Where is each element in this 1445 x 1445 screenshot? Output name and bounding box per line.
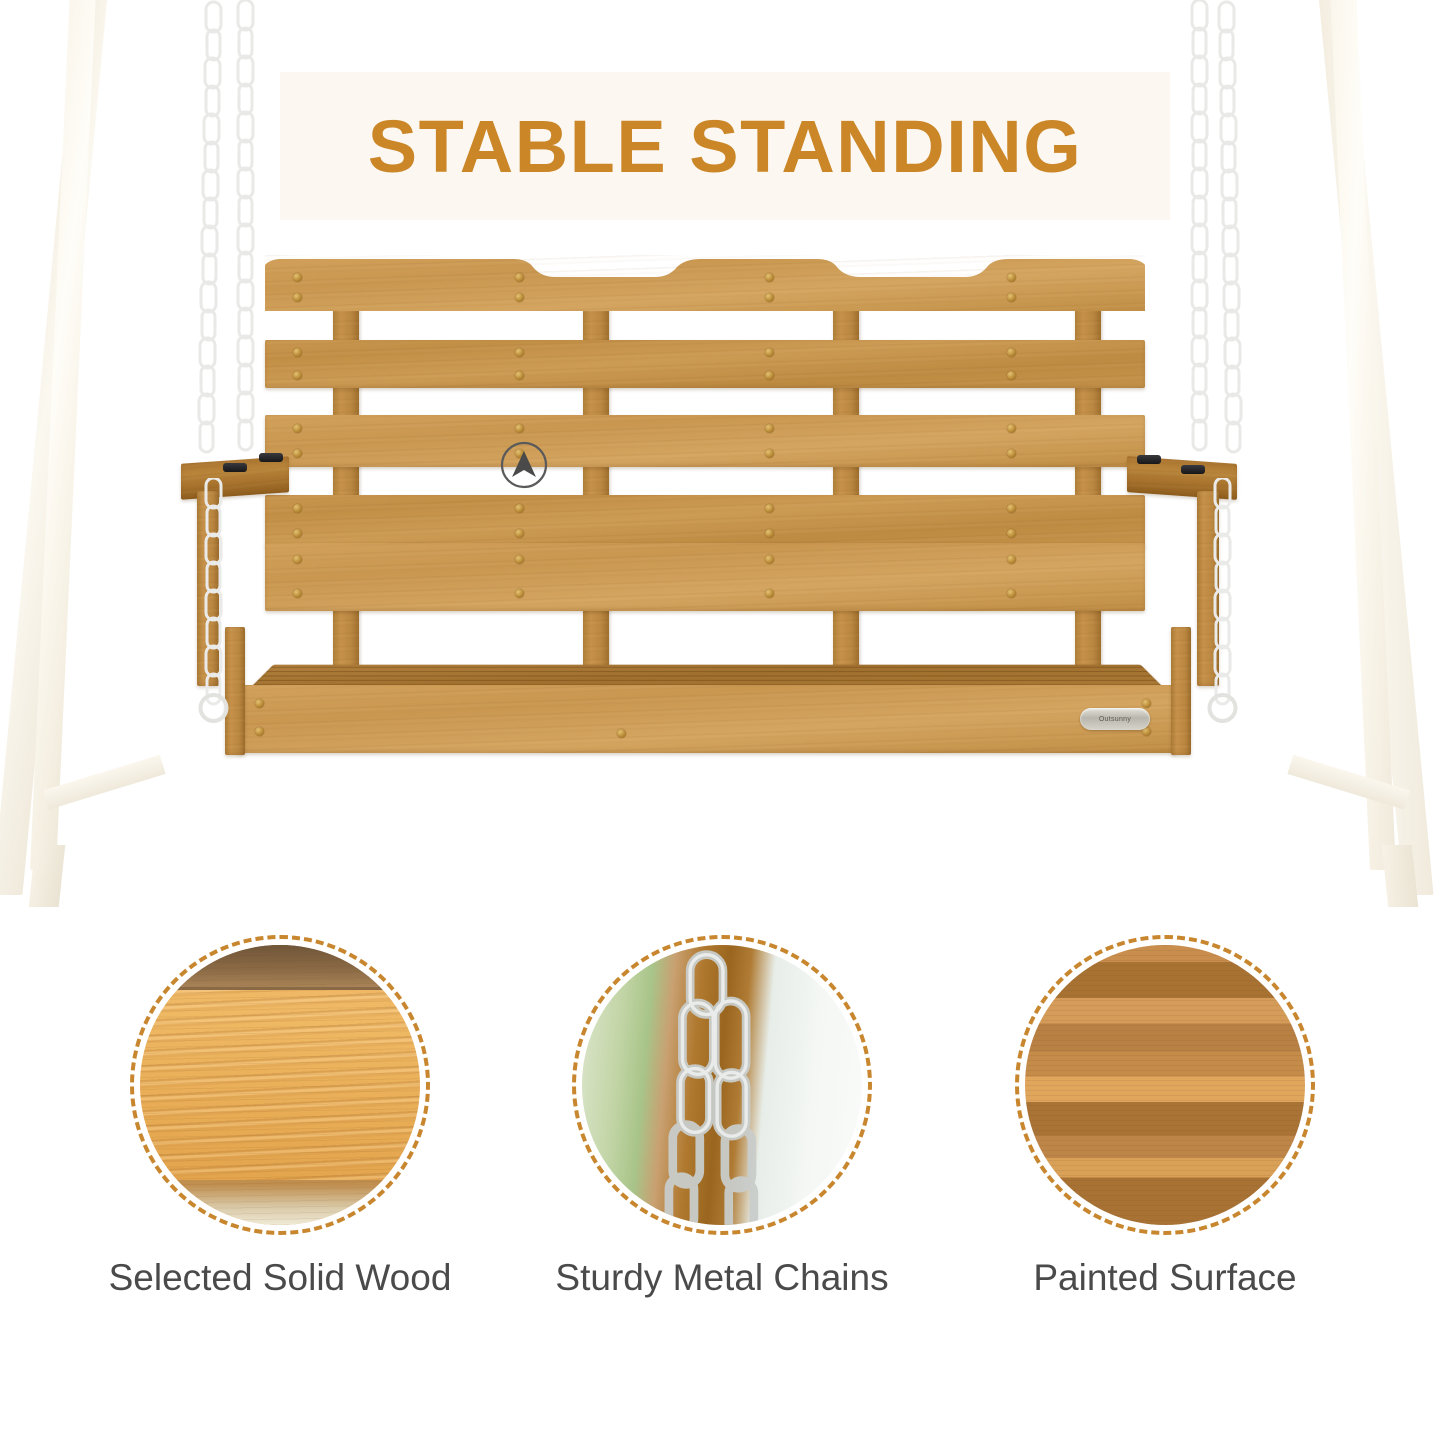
feature-circle-0 xyxy=(130,935,430,1235)
back-slat-5 xyxy=(265,543,1145,611)
solid-wood-board-closeup-photo xyxy=(140,945,420,1225)
eyebolt-mount-left-rear xyxy=(259,453,283,462)
stand-brace-left xyxy=(43,755,166,810)
feature-item-0: Selected Solid Wood xyxy=(70,935,490,1299)
back-slat-4 xyxy=(265,495,1145,547)
feature-item-1: Sturdy Metal Chains xyxy=(512,935,932,1299)
eyebolt-mount-right-rear xyxy=(1137,455,1161,464)
bench-top-rail xyxy=(265,255,1145,311)
up-arrow-circle-icon xyxy=(498,439,550,491)
feature-highlights: Selected Solid Wood xyxy=(0,935,1445,1335)
chain-right-inner xyxy=(1182,0,1216,520)
bench-front-apron xyxy=(237,685,1177,753)
porch-swing-bench xyxy=(175,255,1245,765)
chain-left-lower xyxy=(196,478,232,728)
back-slat-2 xyxy=(265,340,1145,388)
headline-banner: STABLE STANDING xyxy=(280,72,1170,220)
stand-foot-right xyxy=(1382,845,1419,907)
brand-badge: Outsunny xyxy=(1080,708,1150,730)
feature-label-0: Selected Solid Wood xyxy=(70,1257,490,1299)
feature-label-1: Sturdy Metal Chains xyxy=(512,1257,932,1299)
painted-slat-surface-closeup-photo xyxy=(1025,945,1305,1225)
back-slat-3 xyxy=(265,415,1145,467)
feature-label-2: Painted Surface xyxy=(955,1257,1375,1299)
page-title: STABLE STANDING xyxy=(280,72,1170,220)
bench-side-frame-right xyxy=(1171,627,1191,755)
feature-item-2: Painted Surface xyxy=(955,935,1375,1299)
chain-left-inner xyxy=(228,0,262,520)
feature-circle-1 xyxy=(572,935,872,1235)
brand-badge-label: Outsunny xyxy=(1099,716,1131,723)
stand-foot-left xyxy=(29,845,66,907)
metal-chain-closeup-photo xyxy=(582,945,862,1225)
feature-circle-2 xyxy=(1015,935,1315,1235)
chain-right-lower xyxy=(1205,478,1241,728)
